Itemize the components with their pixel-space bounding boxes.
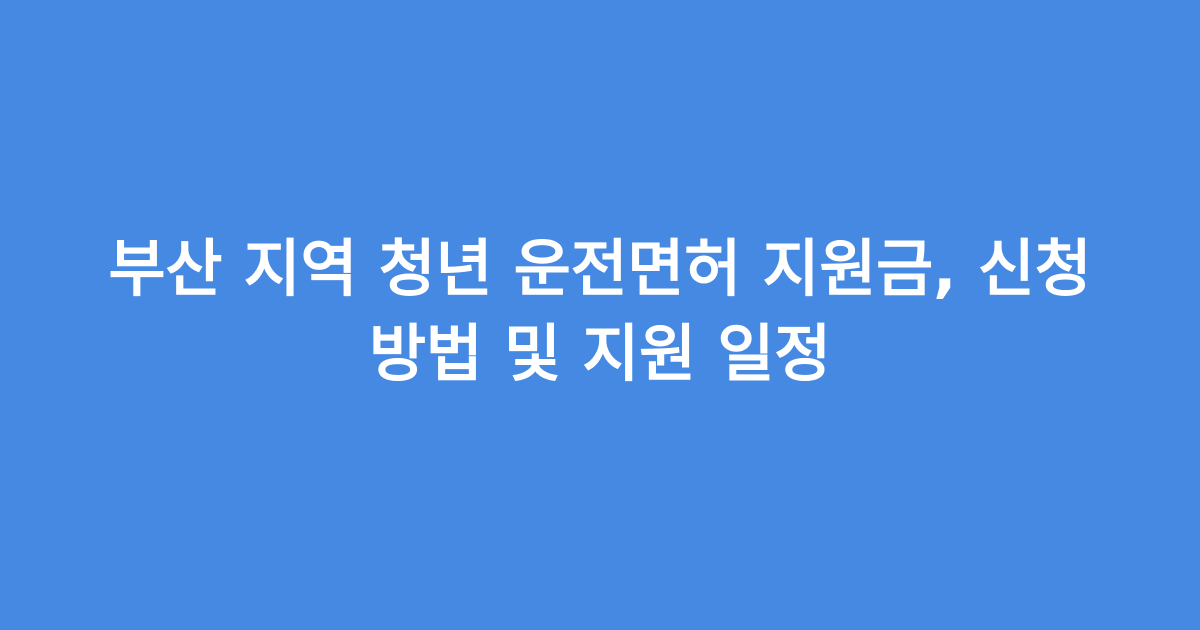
page-title: 부산 지역 청년 운전면허 지원금, 신청 방법 및 지원 일정 — [80, 226, 1120, 396]
og-title-card: 부산 지역 청년 운전면허 지원금, 신청 방법 및 지원 일정 — [0, 0, 1200, 630]
title-block: 부산 지역 청년 운전면허 지원금, 신청 방법 및 지원 일정 — [70, 226, 1130, 396]
